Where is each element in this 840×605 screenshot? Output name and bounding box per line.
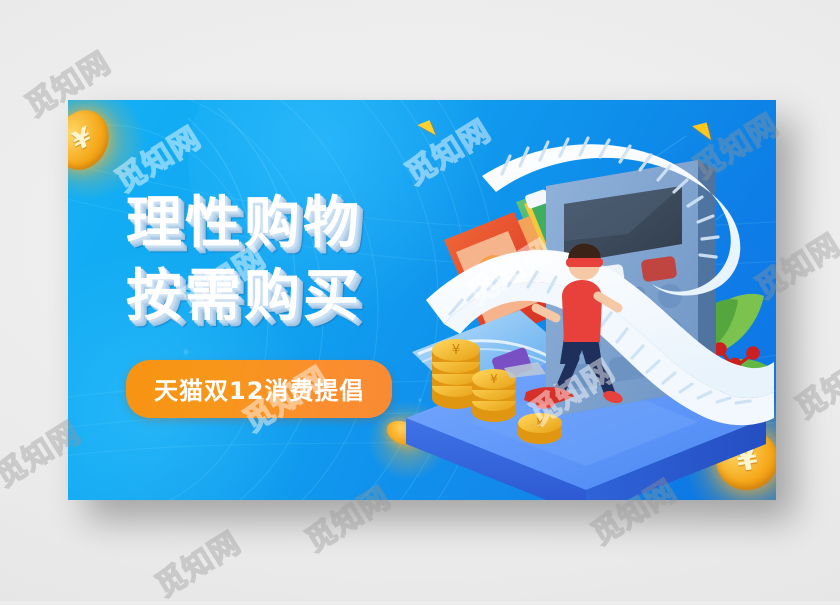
campaign-badge[interactable]: 天猫双12消费提倡	[126, 360, 392, 418]
svg-text:¥: ¥	[452, 343, 460, 358]
svg-text:¥: ¥	[536, 416, 544, 430]
copy-block: 理性购物 按需购买 天猫双12消费提倡	[126, 192, 392, 418]
headline-line-2: 按需购买	[126, 265, 392, 330]
headline-line-1: 理性购物	[126, 192, 392, 257]
promo-banner: ¥ ¥ 理性购物 按需购买 天猫双12消费提倡	[68, 100, 776, 500]
rational-shopping-illustration: ¥ ¥ ¥	[398, 100, 776, 500]
svg-text:¥: ¥	[490, 372, 498, 386]
calculator-key-red	[641, 256, 678, 283]
coin-single: ¥	[518, 413, 562, 444]
